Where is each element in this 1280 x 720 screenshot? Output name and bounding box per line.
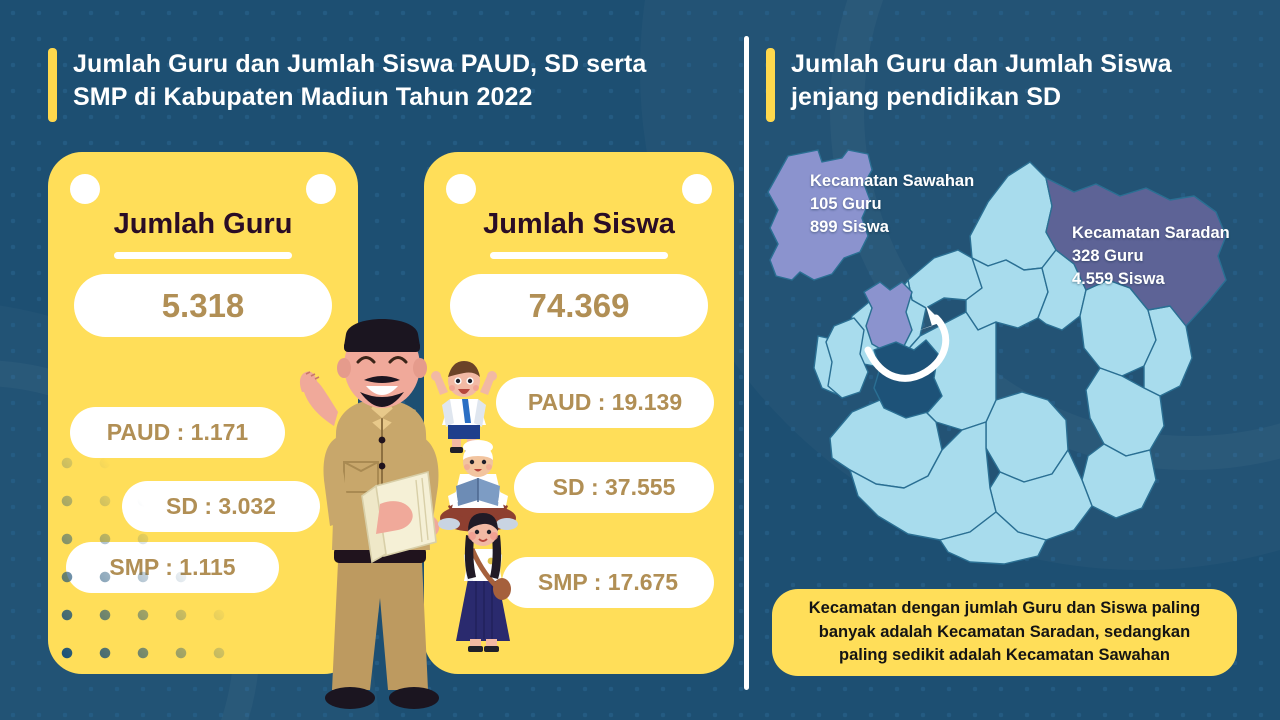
card-punch-hole-left: [446, 174, 476, 204]
map-caption-text: Kecamatan dengan jumlah Guru dan Siswa p…: [809, 597, 1201, 667]
map-region-north-central: [970, 162, 1056, 270]
siswa-paud-value: PAUD : 19.139: [496, 377, 714, 428]
siswa-total-value: 74.369: [450, 274, 708, 337]
siswa-smp-value: SMP : 17.675: [502, 557, 714, 608]
guru-paud-value: PAUD : 1.171: [70, 407, 285, 458]
vertical-divider: [744, 36, 749, 690]
siswa-sd-value: SD : 37.555: [514, 462, 714, 513]
right-title-text: Jumlah Guru dan Jumlah Siswa jenjang pen…: [791, 48, 1172, 113]
infographic-canvas: Jumlah Guru dan Jumlah Siswa PAUD, SD se…: [0, 0, 1280, 720]
guru-sd-value: SD : 3.032: [122, 481, 320, 532]
card-siswa-heading: Jumlah Siswa: [424, 208, 734, 241]
card-heading-underline: [490, 252, 668, 259]
map-region-central-upper: [966, 258, 1048, 330]
card-guru-heading: Jumlah Guru: [48, 208, 358, 241]
guru-total-value: 5.318: [74, 274, 332, 337]
map-label-saradan: Kecamatan Saradan 328 Guru 4.559 Siswa: [1072, 222, 1230, 290]
right-section-title: Jumlah Guru dan Jumlah Siswa jenjang pen…: [766, 48, 1236, 122]
map-caption-box: Kecamatan dengan jumlah Guru dan Siswa p…: [772, 589, 1237, 676]
card-jumlah-guru: Jumlah Guru 5.318 PAUD : 1.171 SD : 3.03…: [48, 152, 358, 674]
map-region-southeast-2: [1082, 444, 1156, 518]
card-punch-hole-left: [70, 174, 100, 204]
map-region-sawahan-actual: [864, 282, 912, 352]
guru-smp-value: SMP : 1.115: [66, 542, 279, 593]
left-section-title: Jumlah Guru dan Jumlah Siswa PAUD, SD se…: [48, 48, 708, 122]
card-jumlah-siswa: Jumlah Siswa 74.369 PAUD : 19.139 SD : 3…: [424, 152, 734, 674]
title-accent-bar: [48, 48, 57, 122]
map-region-west-sliver: [826, 318, 868, 398]
title-accent-bar: [766, 48, 775, 122]
map-label-sawahan: Kecamatan Sawahan 105 Guru 899 Siswa: [810, 170, 974, 238]
card-heading-underline: [114, 252, 292, 259]
card-punch-hole-right: [682, 174, 712, 204]
left-title-text: Jumlah Guru dan Jumlah Siswa PAUD, SD se…: [73, 48, 646, 113]
card-punch-hole-right: [306, 174, 336, 204]
